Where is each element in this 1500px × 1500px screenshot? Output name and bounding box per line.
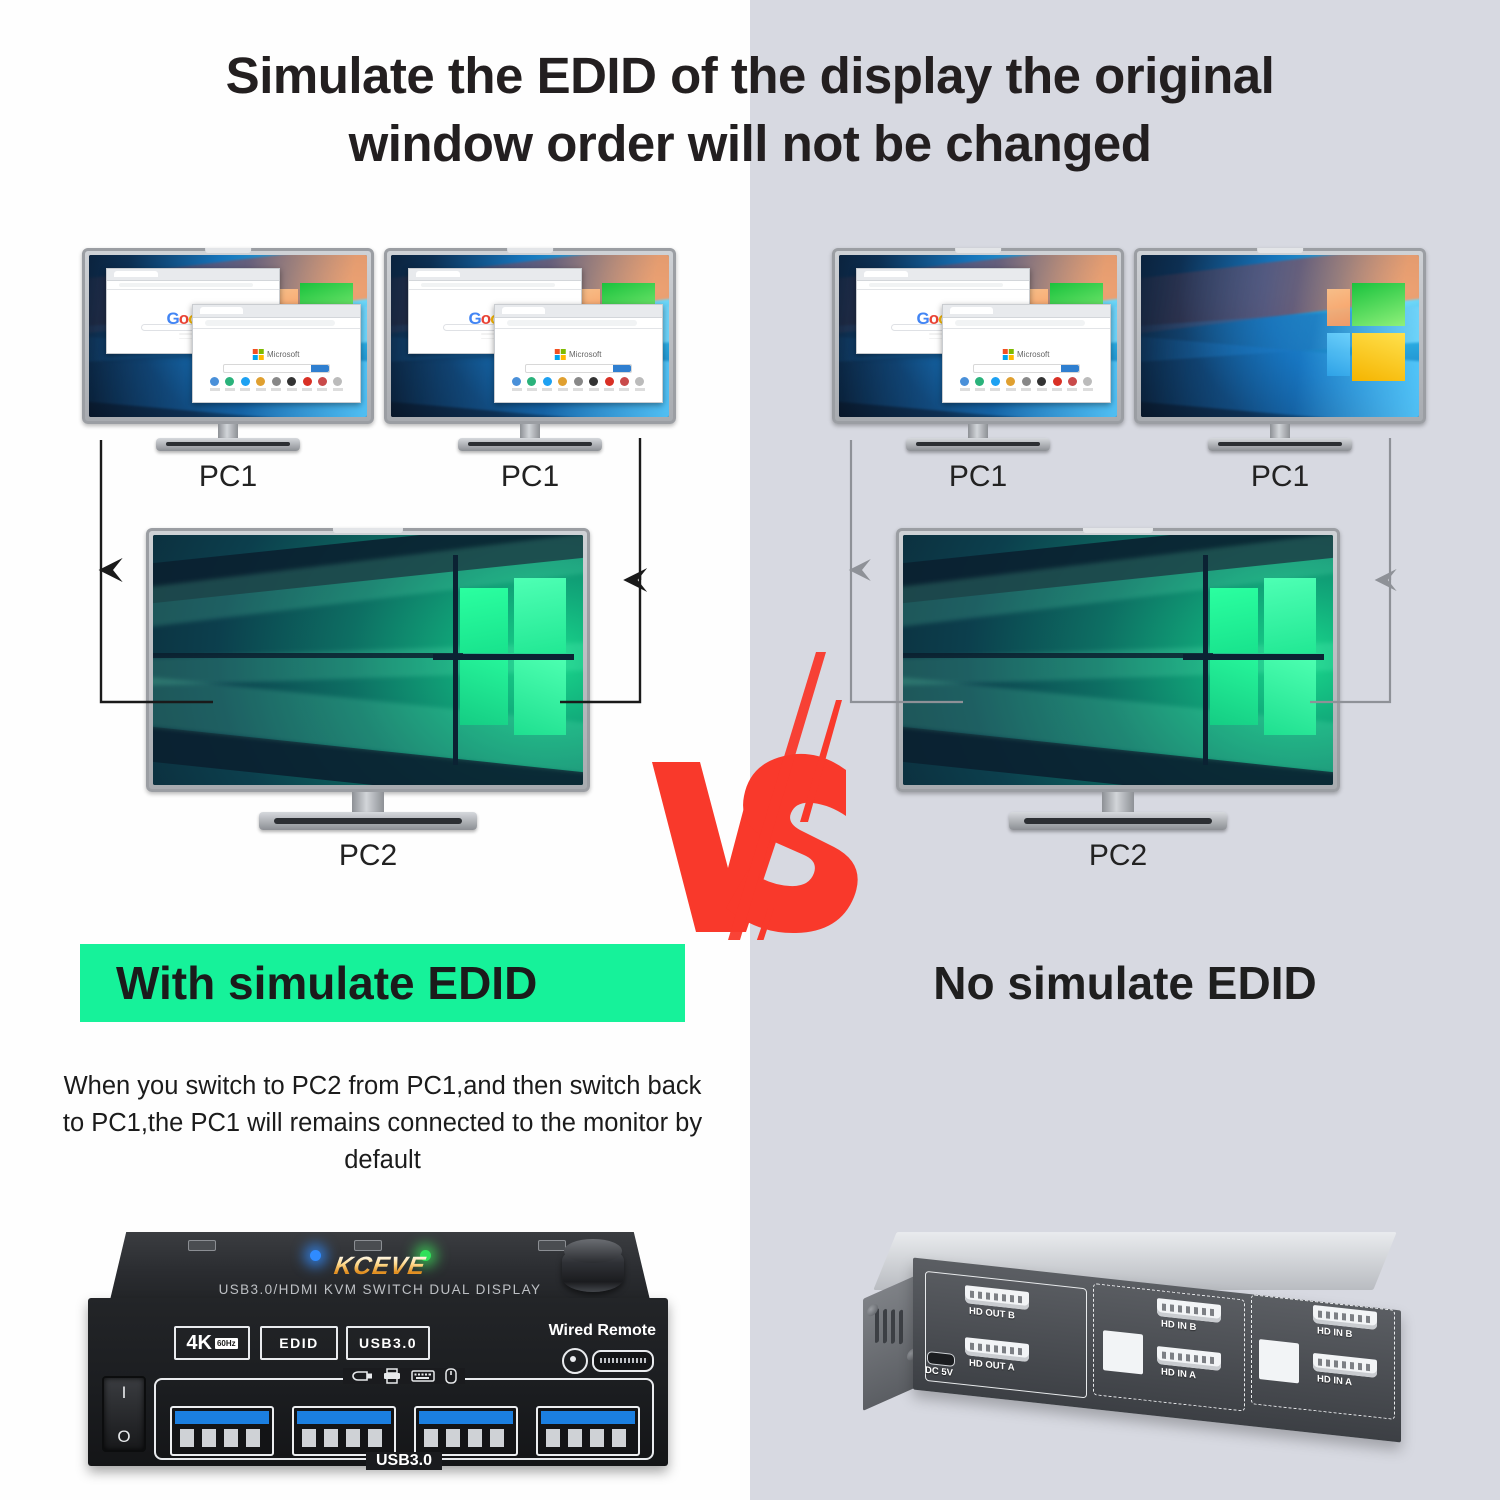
page-title: Simulate the EDID of the display the ori…: [0, 42, 1500, 179]
left-monitor-pc1-b: Google Microsoft: [384, 248, 676, 494]
usb-port-1[interactable]: [170, 1406, 274, 1456]
usb-group-label: USB3.0: [366, 1452, 442, 1470]
right-monitor-pc2: PC2: [896, 528, 1340, 873]
browser-window-microsoft[interactable]: Microsoft: [192, 304, 361, 403]
microsoft-shortcut-icons: [512, 377, 645, 388]
monitor-screen: Google Microsoft: [839, 255, 1117, 417]
monitor-label: PC1: [1134, 460, 1426, 494]
headline-line-1: Simulate the EDID of the display the ori…: [226, 47, 1275, 104]
browser-tabbar: [943, 305, 1110, 319]
browser-tabbar: [857, 269, 1029, 281]
browser-addressbar: [857, 281, 1029, 290]
no-simulate-edid-label: No simulate EDID: [933, 956, 1316, 1010]
monitor-label: PC1: [832, 460, 1124, 494]
browser-body: Microsoft: [495, 334, 662, 402]
vent-slot: [899, 1309, 903, 1345]
kvm-switch-rear-view: HD OUT B HD OUT A DC 5V HD IN B HD IN A …: [855, 1228, 1435, 1478]
badge-4k-main: 4K: [186, 1332, 212, 1355]
printer-icon: [383, 1368, 401, 1384]
monitor-screen: [153, 535, 583, 785]
monitor-notch: [955, 248, 1001, 253]
monitor-notch: [205, 248, 251, 253]
green-windows-wallpaper: [903, 535, 1333, 785]
browser-addressbar: [193, 318, 360, 329]
vs-badge: [640, 640, 890, 940]
wired-remote-port[interactable]: [592, 1350, 654, 1372]
browser-tabbar: [193, 305, 360, 319]
wired-remote-label: Wired Remote: [549, 1322, 656, 1340]
microsoft-wordmark: Microsoft: [1017, 350, 1049, 359]
monitor-base: [906, 438, 1049, 451]
badge-edid: EDID: [260, 1326, 338, 1360]
browser-body: Microsoft: [193, 334, 360, 402]
headline-line-2: window order will not be changed: [0, 110, 1500, 178]
usb-b-port-2[interactable]: [1259, 1339, 1299, 1383]
monitor-bezel: Google Microsoft: [832, 248, 1124, 424]
selector-knob-button[interactable]: [562, 1246, 624, 1292]
brand-logo: KCEVE: [332, 1252, 428, 1281]
usb-b-port-1[interactable]: [1103, 1330, 1143, 1374]
monitor-notch: [333, 528, 403, 533]
keyboard-icon: [411, 1369, 435, 1383]
monitor-screen: [903, 535, 1333, 785]
monitor-bezel: [146, 528, 590, 792]
microsoft-search-input[interactable]: [223, 364, 330, 373]
monitor-notch: [1257, 248, 1303, 253]
with-simulate-edid-banner: With simulate EDID: [80, 944, 685, 1022]
badge-4k-sup: 60Hz: [215, 1338, 238, 1349]
usb-port-4[interactable]: [536, 1406, 640, 1456]
monitor-label: PC2: [146, 839, 590, 873]
monitor-base: [1009, 812, 1227, 830]
top-port-hdmi-icon-b: [354, 1240, 382, 1251]
green-windows-wallpaper: [153, 535, 583, 785]
microsoft-shortcut-icons: [210, 377, 343, 388]
mouse-icon: [445, 1368, 457, 1384]
monitor-label: PC2: [896, 839, 1340, 873]
device-top-surface: KCEVE USB3.0/HDMI KVM SWITCH DUAL DISPLA…: [110, 1232, 650, 1300]
vent-slot: [891, 1309, 895, 1345]
monitor-bezel: [1134, 248, 1426, 424]
right-monitor-pc1-b: PC1: [1134, 248, 1426, 494]
monitor-label: PC1: [384, 460, 676, 494]
microsoft-shortcut-icons: [960, 377, 1093, 388]
kvm-switch-front-view: KCEVE USB3.0/HDMI KVM SWITCH DUAL DISPLA…: [88, 1232, 668, 1482]
monitor-bezel: Google Microsoft: [384, 248, 676, 424]
microsoft-search-input[interactable]: [525, 364, 632, 373]
monitor-neck: [1270, 424, 1290, 438]
browser-addressbar: [943, 318, 1110, 329]
badge-4k: 4K60Hz: [174, 1326, 250, 1360]
device-front-panel: 4K60Hz EDID USB3.0 Wired Remote I O: [88, 1298, 668, 1466]
browser-tabbar: [409, 269, 581, 281]
left-monitor-pc1-a: Google Microsoft: [82, 248, 374, 494]
browser-addressbar: [409, 281, 581, 290]
monitor-screen: Google Microsoft: [391, 255, 669, 417]
led-indicator-blue: [310, 1250, 321, 1261]
microsoft-logo: Microsoft: [1003, 349, 1049, 360]
monitor-label: PC1: [82, 460, 374, 494]
microsoft-wordmark: Microsoft: [267, 350, 299, 359]
windows-wallpaper: [1141, 255, 1419, 417]
device-subtitle: USB3.0/HDMI KVM SWITCH DUAL DISPLAY: [219, 1282, 542, 1297]
vent-slot: [883, 1308, 887, 1344]
with-simulate-edid-label: With simulate EDID: [80, 956, 537, 1010]
browser-addressbar: [107, 281, 279, 290]
monitor-notch: [507, 248, 553, 253]
top-port-usb-icon: [188, 1240, 216, 1251]
monitor-screen: Google Microsoft: [89, 255, 367, 417]
browser-tabbar: [107, 269, 279, 281]
power-switch[interactable]: I O: [102, 1376, 146, 1452]
monitor-base: [259, 812, 477, 830]
monitor-base: [1208, 438, 1351, 451]
right-monitor-pc1-a: Google Microsoft: [832, 248, 1124, 494]
monitor-bezel: Google Microsoft: [82, 248, 374, 424]
monitor-neck: [352, 792, 383, 812]
badge-usb3: USB3.0: [346, 1326, 430, 1360]
browser-body: Microsoft: [943, 334, 1110, 402]
browser-tabbar: [495, 305, 662, 319]
no-simulate-edid-banner: No simulate EDID: [750, 944, 1500, 1022]
monitor-neck: [218, 424, 238, 438]
monitor-base: [458, 438, 601, 451]
monitor-neck: [520, 424, 540, 438]
monitor-neck: [1102, 792, 1133, 812]
browser-window-microsoft[interactable]: Microsoft: [494, 304, 663, 403]
peripheral-icon-row: [343, 1368, 465, 1384]
microsoft-logo: Microsoft: [555, 349, 601, 360]
monitor-notch: [1083, 528, 1153, 533]
left-monitor-pc2: PC2: [146, 528, 590, 873]
browser-addressbar: [495, 318, 662, 329]
usb-port-3[interactable]: [414, 1406, 518, 1456]
browser-window-microsoft[interactable]: Microsoft: [942, 304, 1111, 403]
usb-port-2[interactable]: [292, 1406, 396, 1456]
microsoft-logo: Microsoft: [253, 349, 299, 360]
usb-flash-drive-icon: [351, 1369, 373, 1383]
monitor-screen: [1141, 255, 1419, 417]
power-switch-off-label: O: [104, 1427, 144, 1447]
monitor-base: [156, 438, 299, 451]
top-port-hdmi-icon-a: [538, 1240, 566, 1251]
microsoft-search-input[interactable]: [973, 364, 1080, 373]
power-switch-on-label: I: [104, 1383, 144, 1403]
usb-port-group: USB3.0: [154, 1378, 654, 1460]
monitor-bezel: [896, 528, 1340, 792]
left-panel-caption: When you switch to PC2 from PC1,and then…: [60, 1068, 705, 1179]
wired-remote-button-icon: [562, 1348, 588, 1374]
microsoft-wordmark: Microsoft: [569, 350, 601, 359]
monitor-neck: [968, 424, 988, 438]
